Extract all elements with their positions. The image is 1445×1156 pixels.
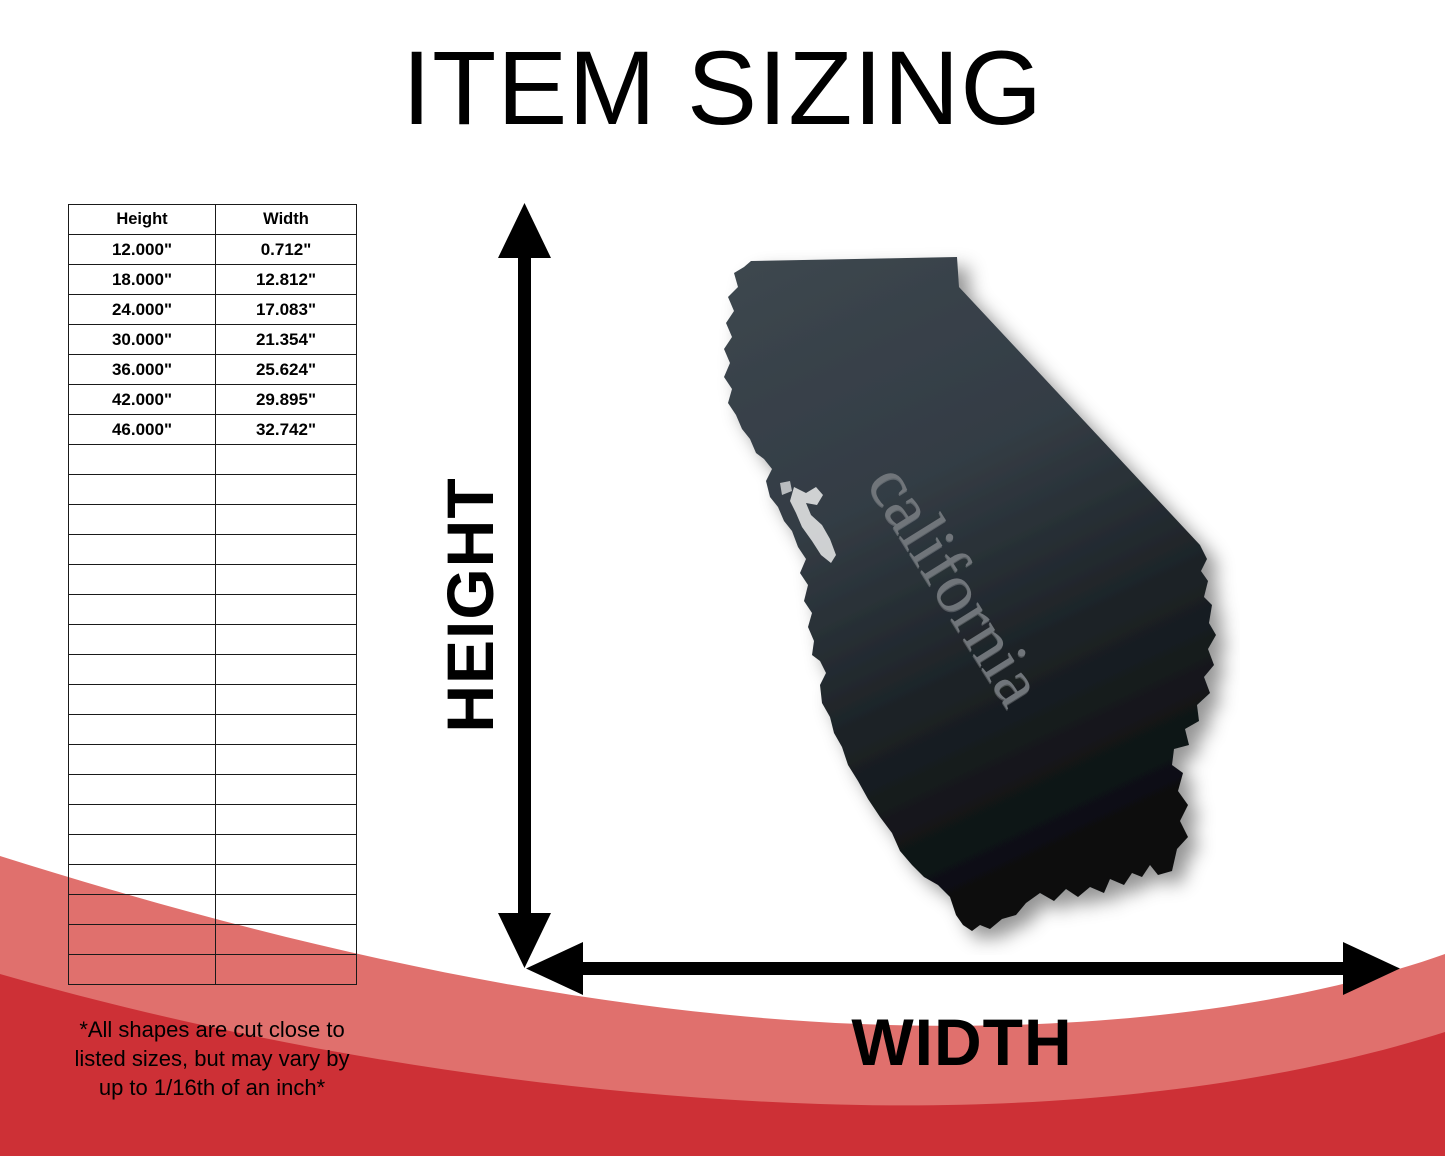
table-row-empty xyxy=(69,775,357,805)
table-row: 18.000"12.812" xyxy=(69,265,357,295)
cell-width-empty xyxy=(216,865,357,895)
table-row-empty xyxy=(69,895,357,925)
cell-width-empty xyxy=(216,895,357,925)
footnote-line-3: up to 1/16th of an inch* xyxy=(42,1073,382,1102)
width-dimension-label: WIDTH xyxy=(851,1009,1072,1075)
table-row-empty xyxy=(69,445,357,475)
cell-height: 18.000" xyxy=(69,265,216,295)
cell-width-empty xyxy=(216,535,357,565)
cell-height-empty xyxy=(69,685,216,715)
table-row-empty xyxy=(69,715,357,745)
table-row-empty xyxy=(69,835,357,865)
cell-width-empty xyxy=(216,955,357,985)
sizing-table: Height Width 12.000"0.712"18.000"12.812"… xyxy=(68,204,357,985)
table-row-empty xyxy=(69,565,357,595)
footnote-line-2: listed sizes, but may vary by xyxy=(42,1044,382,1073)
footnote: *All shapes are cut close to listed size… xyxy=(42,1015,382,1102)
table-row-empty xyxy=(69,655,357,685)
cell-height-empty xyxy=(69,595,216,625)
table-header-row: Height Width xyxy=(69,205,357,235)
cell-width-empty xyxy=(216,745,357,775)
cell-width-empty xyxy=(216,595,357,625)
cell-height: 42.000" xyxy=(69,385,216,415)
cell-width: 12.812" xyxy=(216,265,357,295)
table-row-empty xyxy=(69,505,357,535)
cell-height-empty xyxy=(69,835,216,865)
cell-height: 36.000" xyxy=(69,355,216,385)
table-row: 42.000"29.895" xyxy=(69,385,357,415)
table-row-empty xyxy=(69,625,357,655)
column-header-width: Width xyxy=(216,205,357,235)
cell-height-empty xyxy=(69,925,216,955)
table-row-empty xyxy=(69,475,357,505)
cell-width: 0.712" xyxy=(216,235,357,265)
cell-width-empty xyxy=(216,475,357,505)
cell-width: 25.624" xyxy=(216,355,357,385)
cell-height-empty xyxy=(69,625,216,655)
table-row-empty xyxy=(69,865,357,895)
cell-width-empty xyxy=(216,685,357,715)
table-row-empty xyxy=(69,955,357,985)
cell-height-empty xyxy=(69,505,216,535)
item-sizing-page: ITEM SIZING Height Width 12.000"0.712"18… xyxy=(0,0,1445,1156)
cell-height-empty xyxy=(69,535,216,565)
cell-height-empty xyxy=(69,745,216,775)
cell-height-empty xyxy=(69,895,216,925)
cell-width: 29.895" xyxy=(216,385,357,415)
cell-height: 24.000" xyxy=(69,295,216,325)
height-dimension-label: HEIGHT xyxy=(437,477,503,732)
cell-height-empty xyxy=(69,865,216,895)
cell-height: 30.000" xyxy=(69,325,216,355)
cell-height-empty xyxy=(69,445,216,475)
cell-width-empty xyxy=(216,715,357,745)
cell-height-empty xyxy=(69,775,216,805)
page-title: ITEM SIZING xyxy=(0,36,1445,141)
table-row: 12.000"0.712" xyxy=(69,235,357,265)
cell-width-empty xyxy=(216,565,357,595)
table-row-empty xyxy=(69,925,357,955)
cell-width-empty xyxy=(216,445,357,475)
table-row-empty xyxy=(69,745,357,775)
cell-height: 46.000" xyxy=(69,415,216,445)
table-row-empty xyxy=(69,535,357,565)
table-row-empty xyxy=(69,685,357,715)
california-state-shape xyxy=(680,225,1240,955)
cell-width: 21.354" xyxy=(216,325,357,355)
california-outline-path xyxy=(724,257,1216,931)
cell-height-empty xyxy=(69,955,216,985)
cell-width-empty xyxy=(216,655,357,685)
cell-height-empty xyxy=(69,805,216,835)
column-header-height: Height xyxy=(69,205,216,235)
cell-width-empty xyxy=(216,805,357,835)
cell-width: 17.083" xyxy=(216,295,357,325)
table-body: 12.000"0.712"18.000"12.812"24.000"17.083… xyxy=(69,235,357,985)
table-row: 46.000"32.742" xyxy=(69,415,357,445)
table-row-empty xyxy=(69,805,357,835)
cell-height-empty xyxy=(69,655,216,685)
cell-width: 32.742" xyxy=(216,415,357,445)
cell-width-empty xyxy=(216,835,357,865)
cell-width-empty xyxy=(216,925,357,955)
cell-width-empty xyxy=(216,775,357,805)
cell-height: 12.000" xyxy=(69,235,216,265)
cell-width-empty xyxy=(216,505,357,535)
cell-height-empty xyxy=(69,565,216,595)
cell-width-empty xyxy=(216,625,357,655)
cell-height-empty xyxy=(69,715,216,745)
cell-height-empty xyxy=(69,475,216,505)
table-row: 30.000"21.354" xyxy=(69,325,357,355)
table-row-empty xyxy=(69,595,357,625)
table-row: 24.000"17.083" xyxy=(69,295,357,325)
footnote-line-1: *All shapes are cut close to xyxy=(42,1015,382,1044)
table-row: 36.000"25.624" xyxy=(69,355,357,385)
